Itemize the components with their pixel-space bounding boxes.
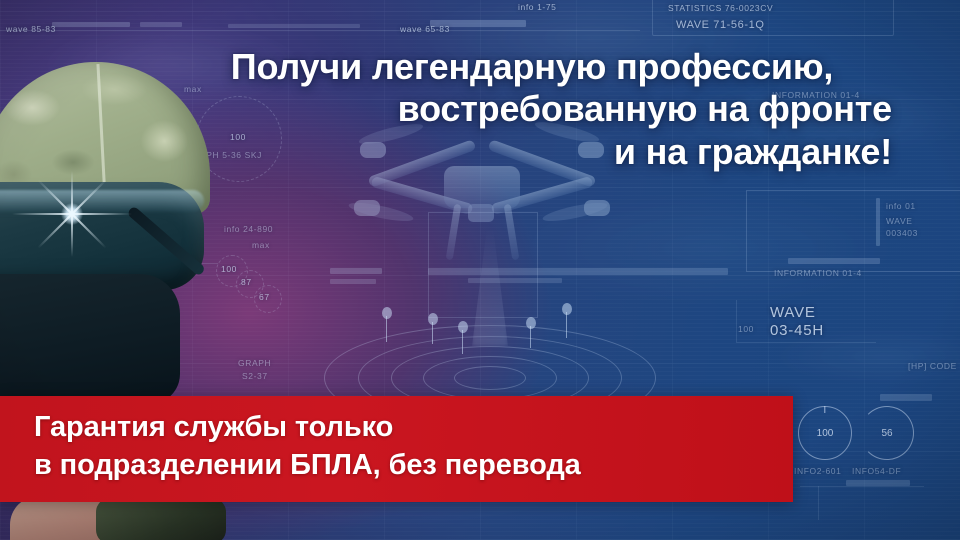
headline-line-3: и на гражданке! xyxy=(172,131,892,173)
headline: Получи легендарную профессию, востребова… xyxy=(172,46,892,173)
banner-text: Гарантия службы только в подразделении Б… xyxy=(34,408,779,485)
promo-poster: wave 85-83 wave 65-83 info 1-75 STATISTI… xyxy=(0,0,960,540)
banner-line-1: Гарантия службы только xyxy=(34,408,779,446)
red-banner: Гарантия службы только в подразделении Б… xyxy=(0,396,793,502)
banner-line-2: в подразделении БПЛА, без перевода xyxy=(34,446,779,484)
headline-line-2: востребованную на фронте xyxy=(172,88,892,130)
headline-line-1: Получи легендарную профессию, xyxy=(172,46,892,88)
